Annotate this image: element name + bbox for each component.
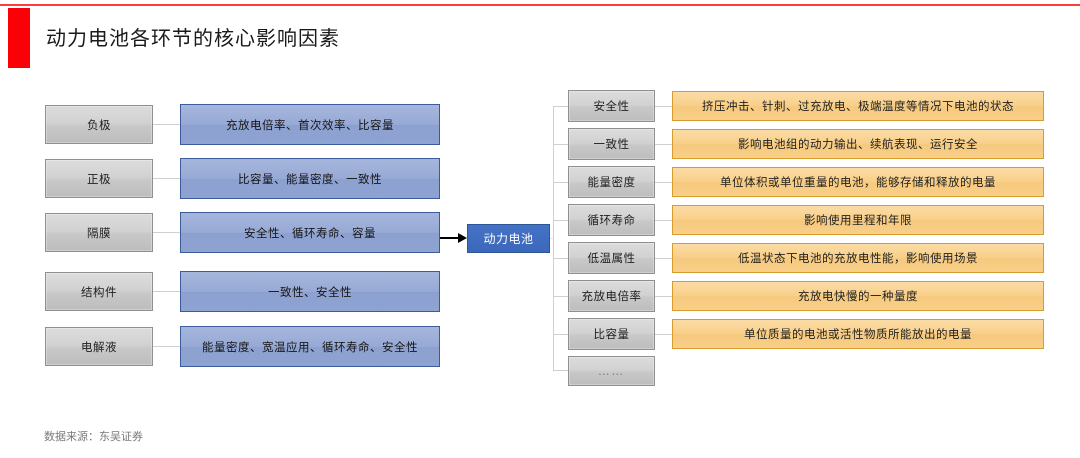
- right-description-0[interactable]: 挤压冲击、针刺、过充放电、极端温度等情况下电池的状态: [672, 91, 1044, 121]
- right-factor-1[interactable]: 一致性: [568, 128, 655, 160]
- right-description-4[interactable]: 低温状态下电池的充放电性能，影响使用场景: [672, 243, 1044, 273]
- right-link-4: [655, 258, 672, 259]
- right-connector-5: [553, 296, 568, 297]
- right-link-6: [655, 334, 672, 335]
- left-factors-3[interactable]: 一致性、安全性: [180, 271, 440, 312]
- right-description-6[interactable]: 单位质量的电池或活性物质所能放出的电量: [672, 319, 1044, 349]
- right-factor-2[interactable]: 能量密度: [568, 166, 655, 198]
- right-factor-7[interactable]: ……: [568, 356, 655, 386]
- right-factor-0[interactable]: 安全性: [568, 90, 655, 122]
- right-connector-4: [553, 258, 568, 259]
- page-title: 动力电池各环节的核心影响因素: [46, 22, 340, 51]
- right-link-1: [655, 144, 672, 145]
- arrow-head-icon: [458, 233, 467, 243]
- right-description-2[interactable]: 单位体积或单位重量的电池，能够存储和释放的电量: [672, 167, 1044, 197]
- left-stage-2[interactable]: 隔膜: [45, 213, 153, 252]
- left-stage-0[interactable]: 负极: [45, 105, 153, 144]
- right-connector-2: [553, 182, 568, 183]
- right-link-5: [655, 296, 672, 297]
- left-factors-4[interactable]: 能量密度、宽温应用、循环寿命、安全性: [180, 326, 440, 367]
- right-connector-1: [553, 144, 568, 145]
- right-factor-4[interactable]: 低温属性: [568, 242, 655, 274]
- right-description-5[interactable]: 充放电快慢的一种量度: [672, 281, 1044, 311]
- right-link-3: [655, 220, 672, 221]
- right-trunk-vertical: [553, 106, 554, 370]
- left-connector-2: [153, 232, 180, 233]
- right-factor-6[interactable]: 比容量: [568, 318, 655, 350]
- left-connector-0: [153, 124, 180, 125]
- right-description-3[interactable]: 影响使用里程和年限: [672, 205, 1044, 235]
- left-stage-1[interactable]: 正极: [45, 159, 153, 198]
- source-note: 数据来源：东吴证券: [44, 428, 143, 444]
- left-stage-3[interactable]: 结构件: [45, 272, 153, 311]
- right-connector-0: [553, 106, 568, 107]
- left-stage-4[interactable]: 电解液: [45, 327, 153, 366]
- right-link-0: [655, 106, 672, 107]
- right-link-2: [655, 182, 672, 183]
- center-node-battery[interactable]: 动力电池: [467, 224, 550, 253]
- left-factors-2[interactable]: 安全性、循环寿命、容量: [180, 212, 440, 253]
- right-connector-6: [553, 334, 568, 335]
- left-factors-0[interactable]: 充放电倍率、首次效率、比容量: [180, 104, 440, 145]
- left-connector-1: [153, 178, 180, 179]
- left-connector-4: [153, 346, 180, 347]
- right-connector-3: [553, 220, 568, 221]
- top-red-rule: [0, 4, 1080, 6]
- left-connector-3: [153, 291, 180, 292]
- left-factors-1[interactable]: 比容量、能量密度、一致性: [180, 158, 440, 199]
- right-description-1[interactable]: 影响电池组的动力输出、续航表现、运行安全: [672, 129, 1044, 159]
- right-factor-3[interactable]: 循环寿命: [568, 204, 655, 236]
- right-connector-7: [553, 370, 568, 371]
- title-accent-bar: [8, 8, 30, 68]
- right-factor-5[interactable]: 充放电倍率: [568, 280, 655, 312]
